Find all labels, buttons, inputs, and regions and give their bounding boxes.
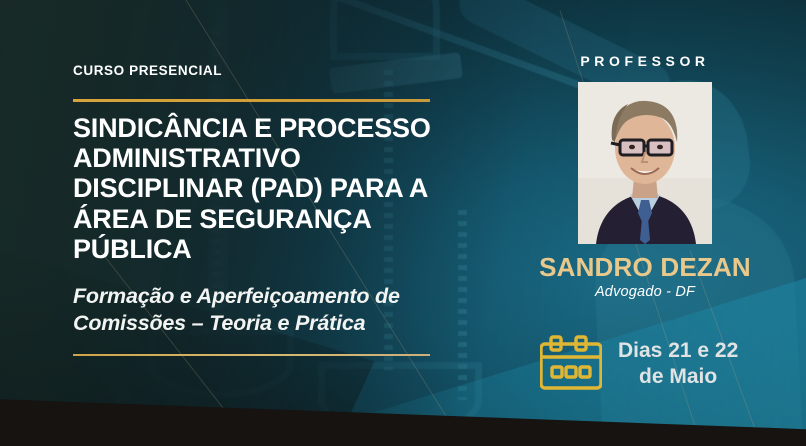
course-promo-poster: CURSO PRESENCIAL SINDICÂNCIA E PROCESSO …	[0, 0, 806, 446]
course-subtitle: Formação e Aperfeiçoamento de Comissões …	[73, 283, 473, 337]
divider-top	[73, 99, 430, 102]
calendar-icon	[540, 334, 602, 394]
page-title: SINDICÂNCIA E PROCESSO ADMINISTRATIVO DI…	[73, 113, 453, 264]
professor-name: SANDRO DEZAN	[520, 252, 770, 283]
course-kicker: CURSO PRESENCIAL	[73, 63, 222, 78]
divider-bottom	[73, 354, 430, 356]
event-date-text: Dias 21 e 22 de Maio	[618, 338, 738, 389]
professor-portrait	[578, 82, 712, 244]
event-date-line-1: Dias 21 e 22	[618, 338, 738, 364]
event-date-block: Dias 21 e 22 de Maio	[540, 334, 738, 394]
professor-label: PROFESSOR	[578, 53, 712, 69]
professor-role: Advogado - DF	[520, 284, 770, 300]
event-date-line-2: de Maio	[618, 364, 738, 390]
